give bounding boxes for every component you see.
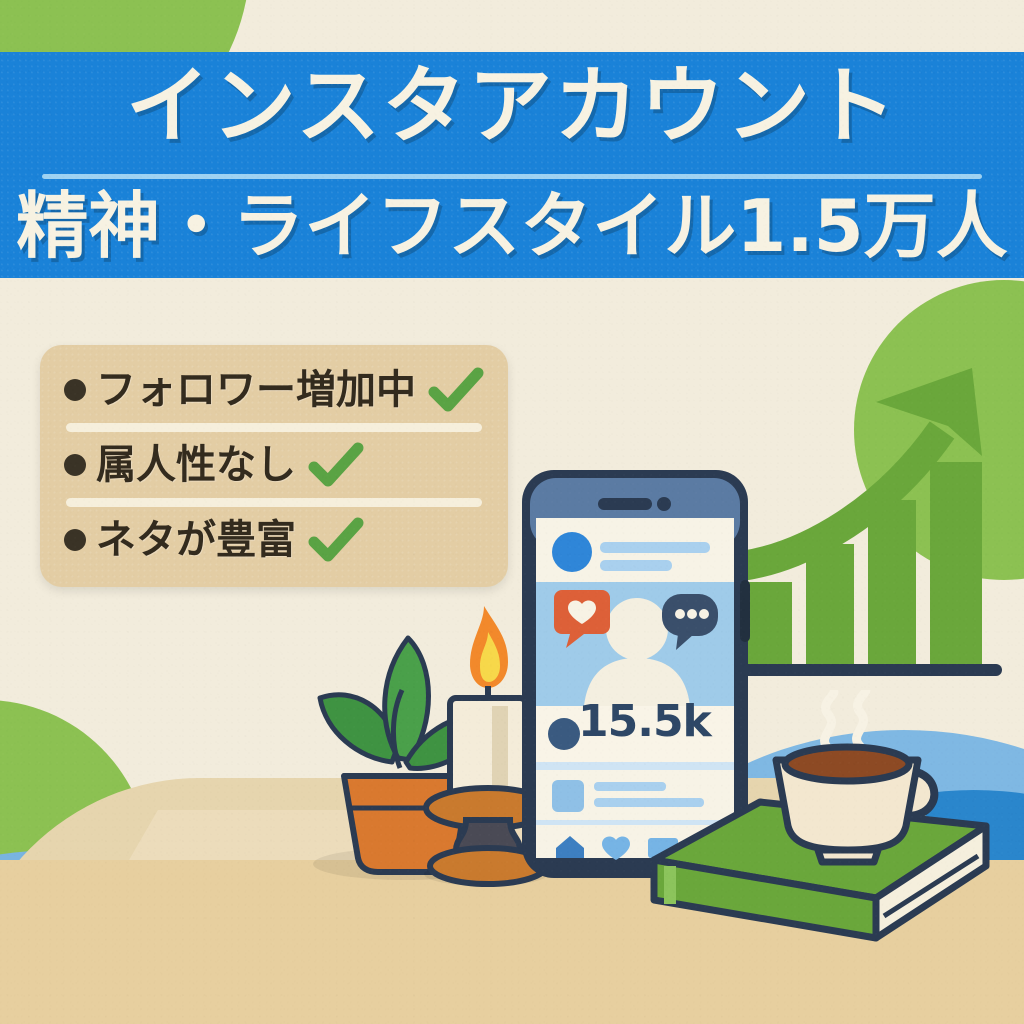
steam-icon [825, 690, 866, 748]
illustration [0, 0, 1024, 1024]
placeholder-line [600, 560, 672, 571]
phone-speaker [598, 498, 652, 510]
growth-bar-chart [736, 360, 1024, 680]
follower-count: 15.5k [578, 696, 711, 747]
bar-4 [930, 462, 982, 666]
thumbnail [552, 780, 584, 812]
coffee-cup-icon [742, 690, 962, 880]
cup-foot [818, 850, 878, 862]
phone-side-button [740, 580, 750, 642]
count-dot-icon [548, 718, 580, 750]
bar-3 [868, 500, 916, 666]
candle-flame [470, 606, 508, 688]
cup-liquid [785, 747, 909, 781]
phone-camera [657, 497, 671, 511]
bar-2 [806, 544, 854, 666]
chart-baseline [736, 664, 1002, 676]
poster-canvas: インスタアカウント 精神・ライフスタイル1.5万人 フォロワー増加中 属人性なし… [0, 0, 1024, 1024]
avatar-circle-icon [552, 532, 592, 572]
placeholder-line [600, 542, 710, 553]
